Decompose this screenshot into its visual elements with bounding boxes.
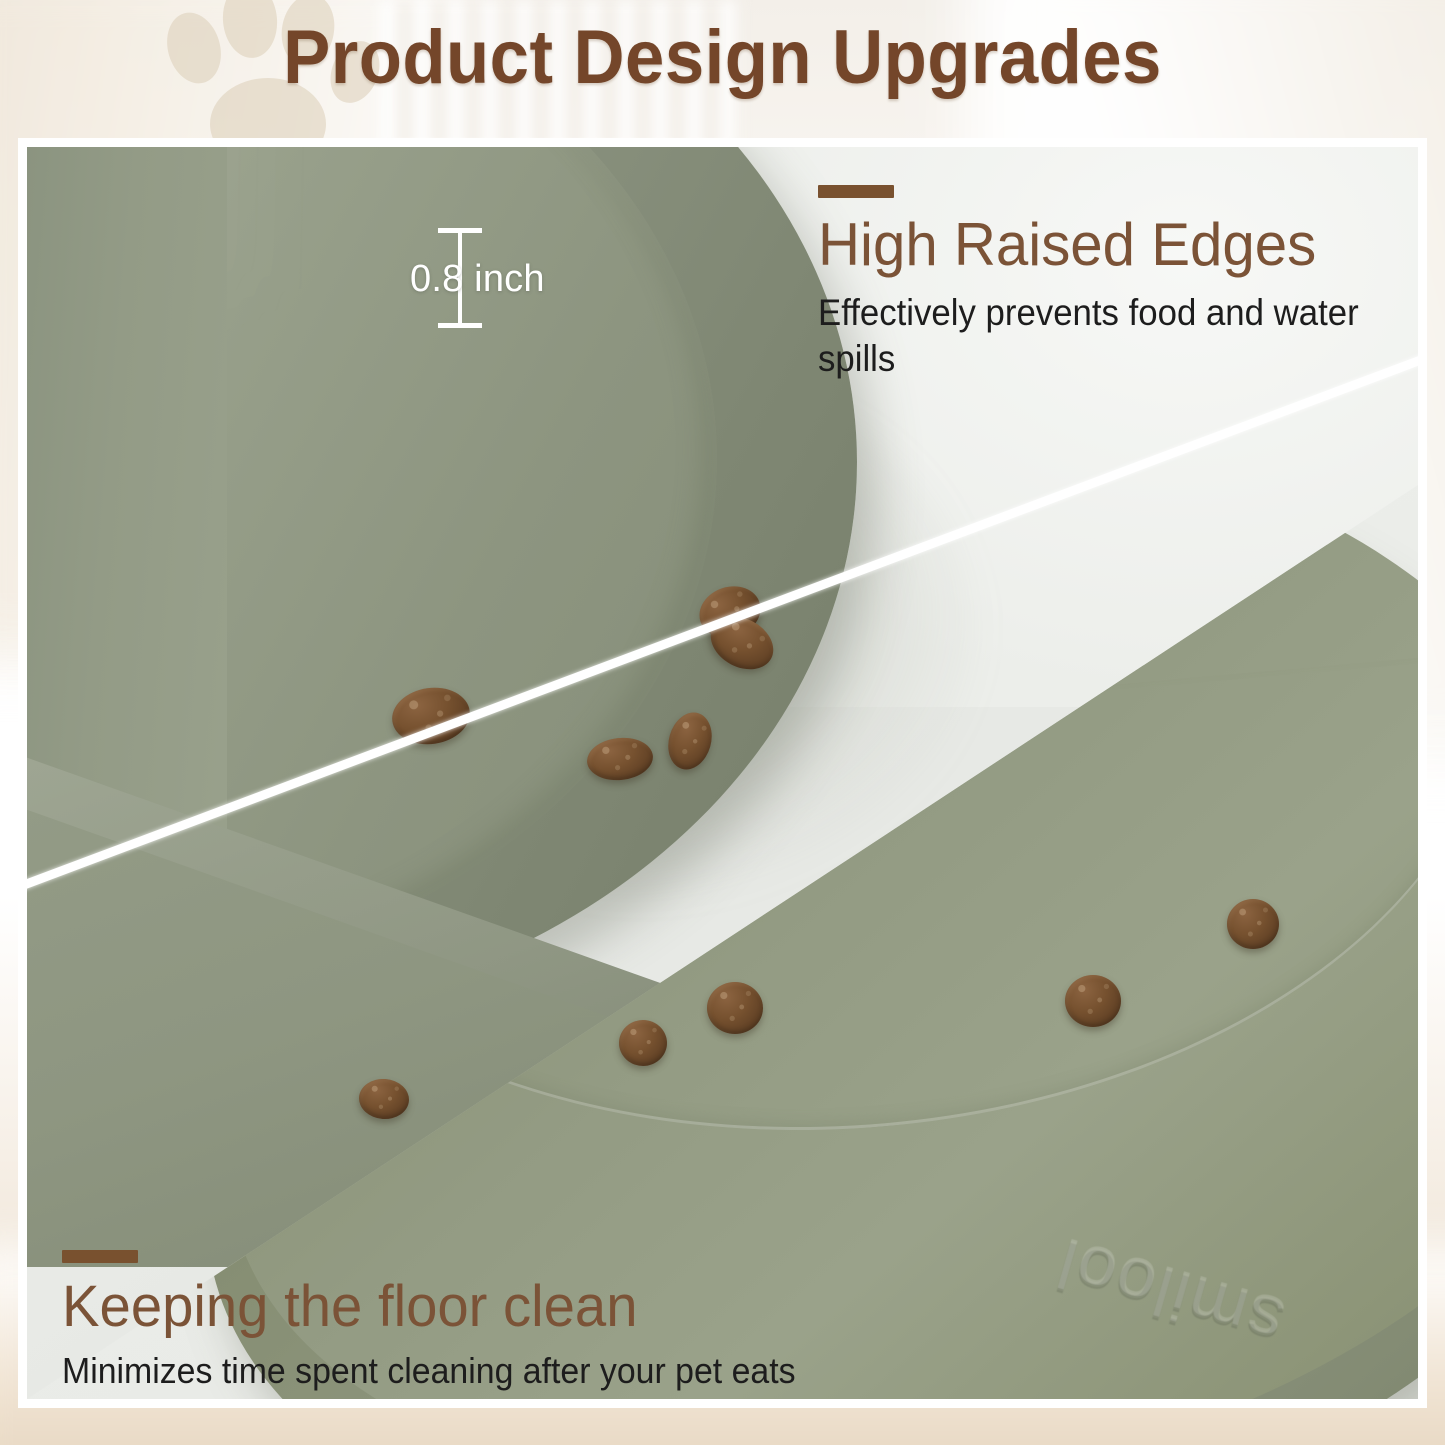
kibble-piece (707, 982, 763, 1034)
kibble-piece (1065, 975, 1121, 1027)
dimension-label: 0.8 inch (410, 258, 545, 301)
accent-dash (62, 1250, 138, 1263)
infographic-canvas: Product Design Upgrades (0, 0, 1445, 1445)
callout-subline: Effectively prevents food and water spil… (818, 290, 1401, 380)
accent-dash (818, 185, 894, 198)
kibble-piece (1227, 899, 1279, 949)
callout-high-raised-edges: High Raised Edges Effectively prevents f… (818, 185, 1438, 381)
callout-subline: Minimizes time spent cleaning after your… (62, 1349, 796, 1393)
callout-headline: High Raised Edges (818, 214, 1419, 276)
page-title: Product Design Upgrades (51, 14, 1395, 101)
callout-keeping-floor-clean: Keeping the floor clean Minimizes time s… (62, 1250, 842, 1393)
callout-headline: Keeping the floor clean (62, 1277, 819, 1337)
kibble-piece (619, 1020, 667, 1066)
dimension-cap-bottom (438, 323, 482, 328)
